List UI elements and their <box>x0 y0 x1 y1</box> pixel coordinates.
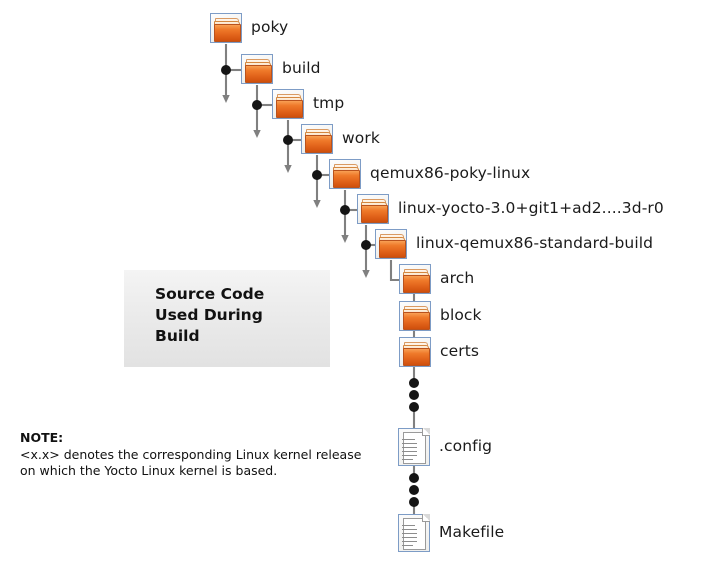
junction-dot <box>252 100 262 110</box>
folder-icon <box>301 124 333 154</box>
tree-node-makefile[interactable]: Makefile <box>398 514 504 552</box>
folder-icon <box>272 89 304 119</box>
tree-node-label: linux-yocto-3.0+git1+ad2....3d-r0 <box>398 201 664 217</box>
tree-node-block[interactable]: block <box>399 301 482 331</box>
ellipsis-dot <box>409 378 419 388</box>
document-icon <box>398 514 430 552</box>
folder-icon <box>357 194 389 224</box>
connector-wires <box>0 0 705 581</box>
folder-icon <box>399 264 431 294</box>
ellipsis-dot <box>409 485 419 495</box>
tree-node-build[interactable]: build <box>241 54 321 84</box>
ellipsis-dot <box>409 390 419 400</box>
folder-icon <box>329 159 361 189</box>
folder-icon <box>241 54 273 84</box>
tree-node-poky[interactable]: poky <box>210 13 288 43</box>
source-code-callout: Source CodeUsed DuringBuild <box>124 270 330 367</box>
tree-node-label: .config <box>439 439 492 455</box>
tree-node-label: build <box>282 61 321 77</box>
callout-line: Used During <box>155 306 263 324</box>
document-icon <box>398 428 430 466</box>
tree-node-label: Makefile <box>439 525 504 541</box>
folder-icon <box>375 229 407 259</box>
diagram-canvas: poky build tmp work qemux86-poky-linux l… <box>0 0 705 581</box>
junction-dot <box>283 135 293 145</box>
tree-node-linux-qemux86-standard-build[interactable]: linux-qemux86-standard-build <box>375 229 653 259</box>
tree-node-label: work <box>342 131 380 147</box>
tree-node-tmp[interactable]: tmp <box>272 89 344 119</box>
junction-dot <box>340 205 350 215</box>
tree-node-certs[interactable]: certs <box>399 337 479 367</box>
folder-icon <box>399 301 431 331</box>
tree-node-qemux86-poky-linux[interactable]: qemux86-poky-linux <box>329 159 530 189</box>
tree-node-label: poky <box>251 20 288 36</box>
tree-node-label: arch <box>440 271 474 287</box>
callout-line: Build <box>155 327 200 345</box>
tree-node-config-file[interactable]: .config <box>398 428 492 466</box>
tree-node-arch[interactable]: arch <box>399 264 474 294</box>
ellipsis-dot <box>409 473 419 483</box>
tree-node-work[interactable]: work <box>301 124 380 154</box>
ellipsis-dot <box>409 402 419 412</box>
callout-line: Source Code <box>155 285 264 303</box>
note-body: <x.x> denotes the corresponding Linux ke… <box>20 447 380 479</box>
note-heading: NOTE: <box>20 430 380 445</box>
tree-node-label: block <box>440 308 482 324</box>
note-block: NOTE: <x.x> denotes the corresponding Li… <box>20 430 380 479</box>
tree-node-linux-yocto[interactable]: linux-yocto-3.0+git1+ad2....3d-r0 <box>357 194 664 224</box>
folder-icon <box>210 13 242 43</box>
junction-dot <box>361 240 371 250</box>
ellipsis-dot <box>409 497 419 507</box>
folder-icon <box>399 337 431 367</box>
tree-node-label: linux-qemux86-standard-build <box>416 236 653 252</box>
junction-dot <box>312 170 322 180</box>
callout-text: Source CodeUsed DuringBuild <box>155 284 264 347</box>
junction-dot <box>221 65 231 75</box>
tree-node-label: tmp <box>313 96 344 112</box>
tree-node-label: certs <box>440 344 479 360</box>
tree-node-label: qemux86-poky-linux <box>370 166 530 182</box>
